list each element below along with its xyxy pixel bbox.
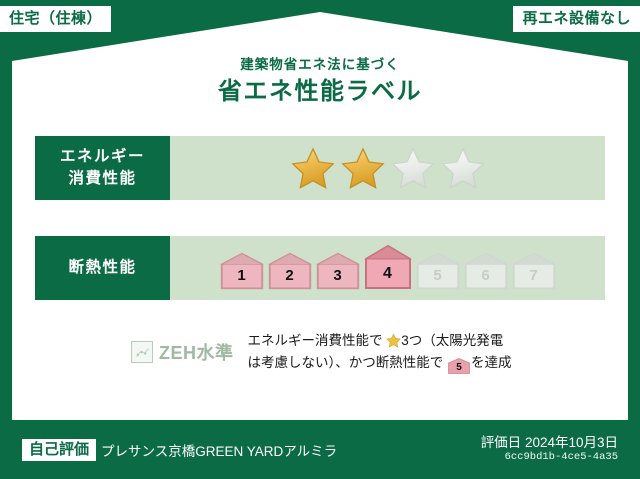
energy-performance-row: エネルギー 消費性能 [35,136,605,200]
star-icon [391,146,435,190]
insulation-level-badge-value: 2 [285,267,293,290]
zeh-criteria-text-part1: エネルギー消費性能で [248,333,383,348]
energy-star-rating [170,136,605,200]
insulation-performance-row: 断熱性能 1234567 [35,236,605,300]
insulation-level-badge-value: 4 [383,265,392,290]
label-id: 6cc9bd1b-4ce5-4a35 [481,451,618,465]
zeh-standard-label: ZEH水準 [159,339,234,365]
energy-performance-label-line1: エネルギー [60,146,145,168]
building-name: プレサンス京橋GREEN YARDアルミラ [101,440,337,460]
inline-star-icon [386,333,401,348]
zeh-criteria-text-part4: を達成 [471,355,512,370]
zeh-note-block: ZEH水準 エネルギー消費性能で 3つ（太陽光発電 は考慮しない）、かつ断熱性能… [35,330,605,375]
insulation-level-badge: 1 [219,252,265,290]
insulation-level-badge: 7 [511,252,557,290]
insulation-level-badge-value: 3 [333,267,341,290]
footer-right-group: 評価日 2024年10月3日 6cc9bd1b-4ce5-4a35 [481,434,618,465]
energy-performance-label-line2: 消費性能 [68,168,136,190]
zeh-criteria-text-part3: は考慮しない）、かつ断熱性能で [248,355,444,370]
zeh-criteria-text-part2: 3つ（太陽光発電 [401,333,503,348]
label-title: 建築物省エネ法に基づく 省エネ性能ラベル [0,56,640,108]
renewable-energy-tab: 再エネ設備なし [513,6,640,32]
insulation-level-badge-value: 7 [529,267,537,290]
insulation-level-badge: 4 [363,244,413,290]
zeh-criteria-text: エネルギー消費性能で 3つ（太陽光発電 は考慮しない）、かつ断熱性能で 5 を達… [248,330,606,375]
zeh-mark-icon [131,341,153,363]
star-icon [341,146,385,190]
page-title: 省エネ性能ラベル [0,76,640,108]
inline-insulation-badge-value: 5 [448,358,470,378]
footer-left-group: 自己評価 プレサンス京橋GREEN YARDアルミラ [22,439,337,461]
insulation-rating: 1234567 [170,236,605,300]
inline-insulation-badge: 5 [448,358,470,374]
energy-performance-label: エネルギー 消費性能 [35,136,170,200]
star-icon [291,146,335,190]
insulation-level-badge: 5 [415,252,461,290]
evaluation-date: 評価日 2024年10月3日 [481,434,618,452]
star-icon [441,146,485,190]
label-footer: 自己評価 プレサンス京橋GREEN YARDアルミラ 評価日 2024年10月3… [0,420,640,479]
insulation-level-badge: 2 [267,252,313,290]
energy-label-frame: 住宅（住棟） 再エネ設備なし 建築物省エネ法に基づく 省エネ性能ラベル エネルギ… [0,0,640,479]
insulation-performance-label-text: 断熱性能 [68,257,136,279]
evaluation-type-badge: 自己評価 [22,439,96,461]
insulation-level-badge-value: 6 [481,267,489,290]
page-subtitle: 建築物省エネ法に基づく [0,56,640,74]
insulation-level-badge-value: 5 [433,267,441,290]
insulation-performance-label: 断熱性能 [35,236,170,300]
housing-type-tab: 住宅（住棟） [0,6,111,32]
insulation-level-badge-value: 1 [237,267,245,290]
insulation-level-badge: 3 [315,252,361,290]
zeh-standard-chip: ZEH水準 [35,339,234,365]
insulation-level-badges: 1234567 [219,244,557,292]
insulation-level-badge: 6 [463,252,509,290]
